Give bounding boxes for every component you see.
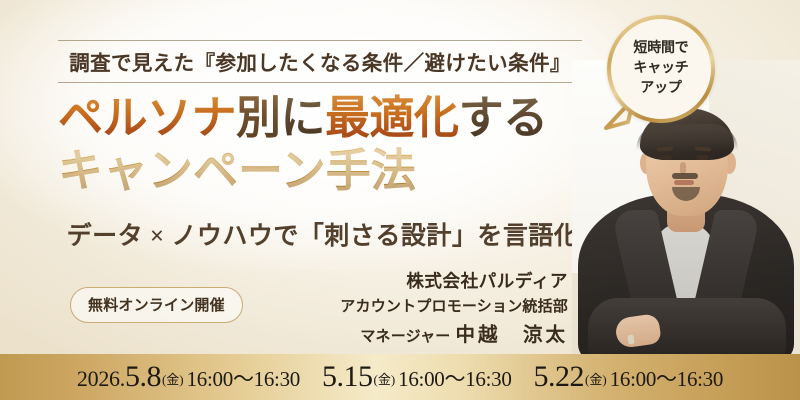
webinar-banner: 調査で見えた『参加したくなる条件／避けたい条件』 ペルソナ別に最適化する キャン… (0, 0, 800, 400)
date-dow-2: (金) (372, 369, 396, 388)
title-segment-ni: に (281, 93, 326, 143)
date-time-2: 16:00〜16:30 (398, 363, 511, 393)
date-item-2: 5.15(金)16:00〜16:30 (322, 360, 512, 394)
eyebrow-rule-bottom (58, 82, 582, 83)
speaker-role: マネージャー (360, 327, 450, 345)
speaker-company: 株式会社パルディア (340, 270, 568, 295)
date-item-3: 5.22(金)16:00〜16:30 (534, 360, 724, 394)
speech-bubble: 短時間で キャッチ アップ (607, 15, 715, 123)
date-time-1: 16:00〜16:30 (187, 363, 300, 393)
subtitle: データ × ノウハウで「刺さる設計」を言語化 (58, 216, 588, 252)
speech-bubble-text: 短時間で キャッチ アップ (633, 39, 688, 99)
date-dow-1: (金) (161, 369, 185, 388)
speaker-name: 中越 涼太 (455, 323, 568, 346)
photo-eye-right (696, 155, 709, 160)
photo-ring (627, 335, 634, 345)
speaker-info: 株式会社パルディア アカウントプロモーション統括部 マネージャー中越 涼太 (340, 270, 568, 350)
date-time-3: 16:00〜16:30 (610, 363, 723, 393)
status-badge: 無料オンライン開催 (70, 287, 243, 323)
page-title: ペルソナ別に最適化する キャンペーン手法 (58, 96, 618, 195)
eyebrow-text: 調査で見えた『参加したくなる条件／避けたい条件』 (58, 41, 582, 82)
photo-brow-left (657, 146, 673, 151)
photo-moustache (672, 173, 698, 179)
date-list: 2026.5.8(金)16:00〜16:30 5.15(金)16:00〜16:3… (66, 360, 734, 394)
date-dow-3: (金) (584, 369, 608, 388)
date-item-1: 2026.5.8(金)16:00〜16:30 (77, 360, 300, 394)
date-year-1: 2026. (77, 366, 125, 392)
bubble-line-1: 短時間で (633, 40, 688, 56)
bubble-line-2: キャッチ (633, 60, 688, 76)
photo-brow-right (695, 146, 711, 151)
speaker-department: アカウントプロモーション統括部 (340, 295, 568, 318)
date-md-3: 5.22 (534, 360, 585, 394)
eyebrow-block: 調査で見えた『参加したくなる条件／避けたい条件』 (58, 40, 582, 83)
title-line-2: キャンペーン手法 (58, 148, 618, 195)
title-segment-suru: する (459, 93, 548, 143)
title-segment-persona: ペルソナ (58, 93, 236, 143)
title-line-1: ペルソナ別に最適化する (58, 96, 618, 142)
bubble-line-3: アップ (640, 80, 681, 96)
date-bar: 2026.5.8(金)16:00〜16:30 5.15(金)16:00〜16:3… (0, 354, 800, 400)
speaker-name-row: マネージャー中越 涼太 (340, 319, 568, 350)
title-segment-betsu: 別 (236, 93, 281, 143)
photo-mouth (674, 180, 694, 185)
photo-eye-left (659, 155, 672, 160)
title-segment-campaign: キャンペーン手法 (58, 144, 416, 197)
date-md-2: 5.15 (322, 360, 373, 394)
date-md-1: 5.8 (125, 360, 161, 394)
eyebrow-rule-top (58, 40, 582, 41)
title-segment-saitekika: 最適化 (325, 93, 459, 143)
